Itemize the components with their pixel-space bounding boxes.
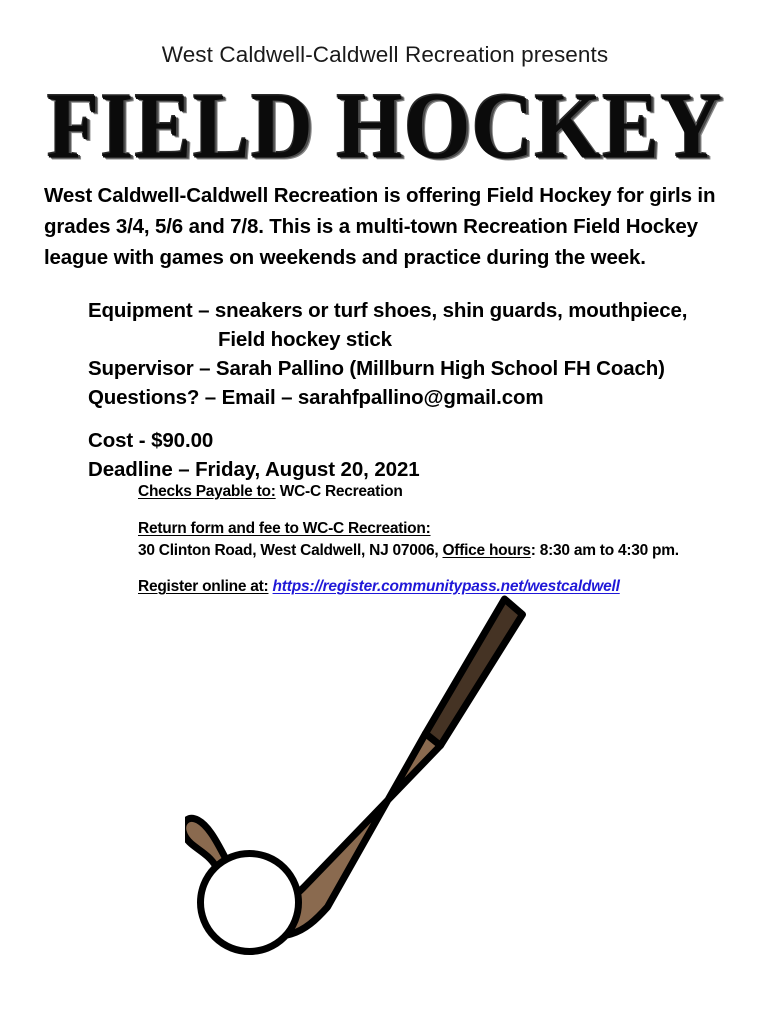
checks-payable-value: WC-C Recreation xyxy=(276,483,403,500)
return-form-header: Return form and fee to WC-C Recreation: xyxy=(138,521,431,537)
checks-payable-label: Checks Payable to: xyxy=(138,483,276,500)
office-hours-value: : 8:30 am to 4:30 pm. xyxy=(531,542,679,559)
supervisor-line: Supervisor – Sarah Pallino (Millburn Hig… xyxy=(88,354,748,383)
address-text: 30 Clinton Road, West Caldwell, NJ 07006… xyxy=(138,542,442,559)
page-title-text: FIELD HOCKEY xyxy=(47,80,723,174)
page-title: FIELD HOCKEY xyxy=(0,80,770,174)
cost-deadline-block: Cost - $90.00 Deadline – Friday, August … xyxy=(88,426,748,484)
equipment-line-2: Field hockey stick xyxy=(88,325,748,354)
checks-payable-row: Checks Payable to: WC-C Recreation xyxy=(138,484,403,500)
flyer-page: West Caldwell-Caldwell Recreation presen… xyxy=(0,0,770,1024)
presents-line: West Caldwell-Caldwell Recreation presen… xyxy=(0,44,770,67)
intro-paragraph: West Caldwell-Caldwell Recreation is off… xyxy=(44,180,734,273)
cost-line: Cost - $90.00 xyxy=(88,426,748,455)
details-block: Equipment – sneakers or turf shoes, shin… xyxy=(88,296,748,412)
deadline-line: Deadline – Friday, August 20, 2021 xyxy=(88,455,748,484)
questions-email-line: Questions? – Email – sarahfpallino@gmail… xyxy=(88,383,748,412)
field-hockey-ball xyxy=(201,854,299,952)
address-row: 30 Clinton Road, West Caldwell, NJ 07006… xyxy=(138,543,679,559)
hockey-stick-svg xyxy=(185,585,585,985)
office-hours-label: Office hours xyxy=(442,542,530,559)
equipment-line: Equipment – sneakers or turf shoes, shin… xyxy=(88,296,748,325)
stick-grip-shape xyxy=(426,599,523,746)
return-form-header-text: Return form and fee to WC-C Recreation: xyxy=(138,520,431,537)
hockey-stick-graphic xyxy=(185,585,585,985)
